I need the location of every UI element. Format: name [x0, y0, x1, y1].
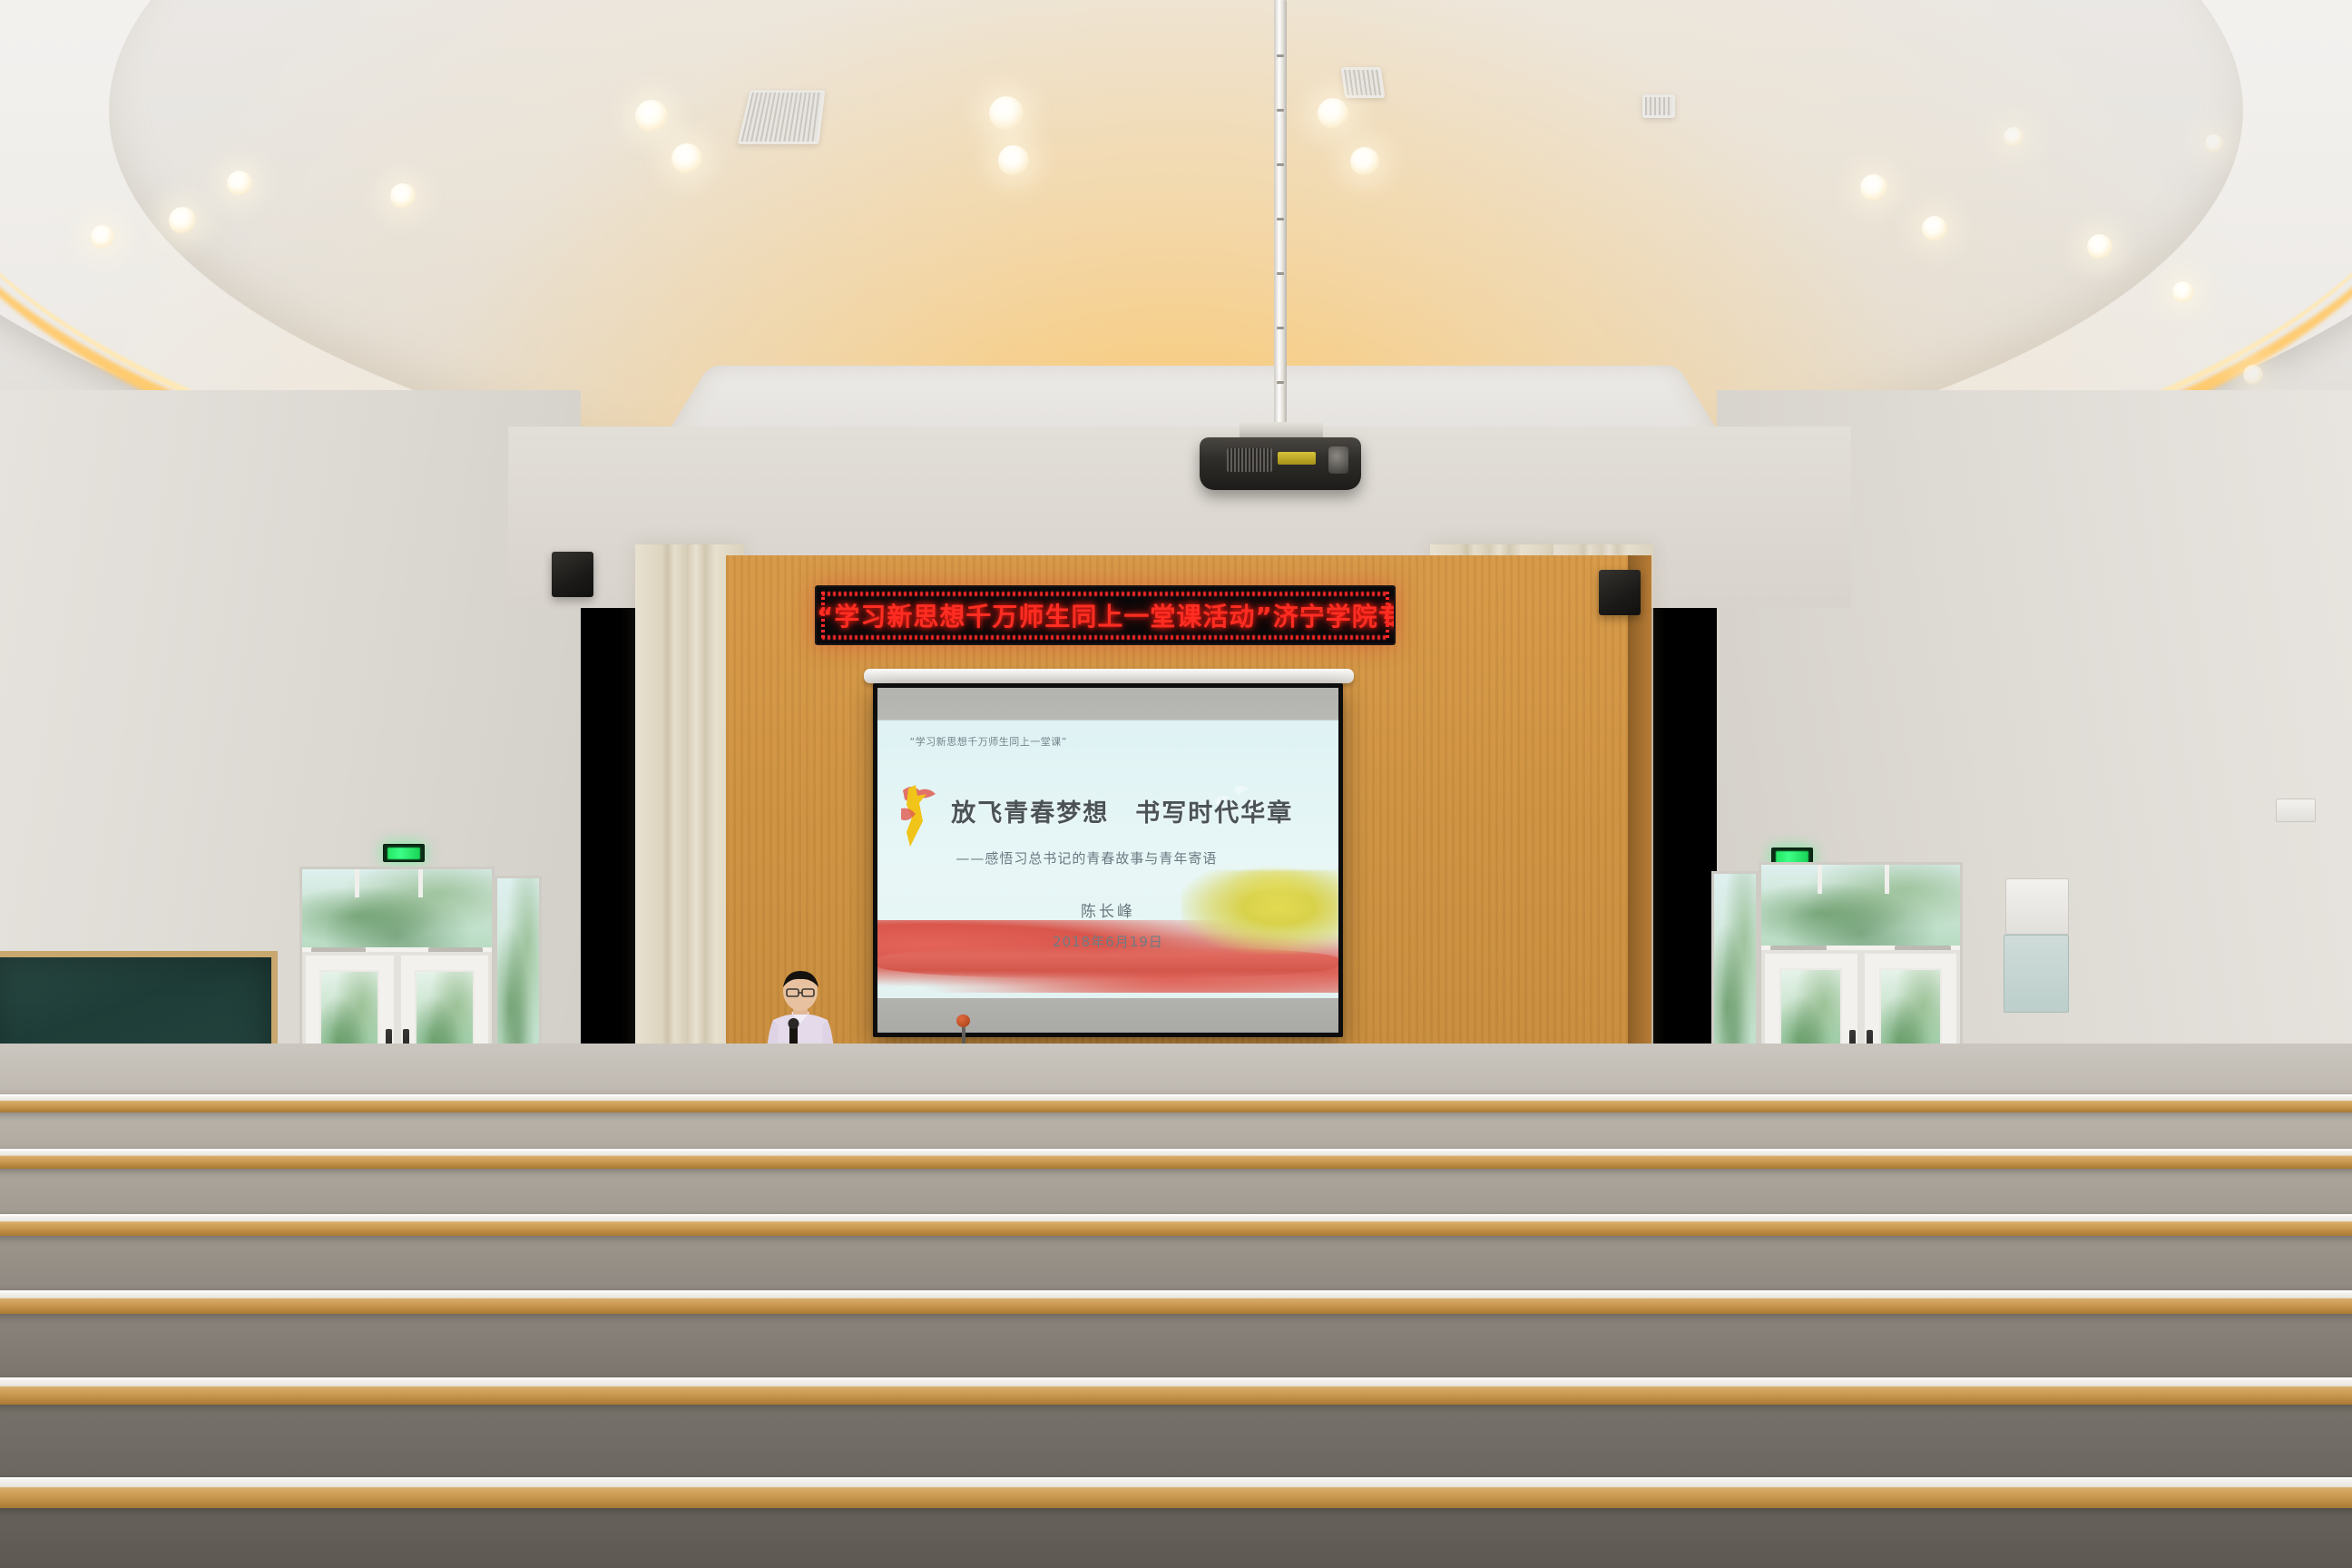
ceiling-downlight	[1860, 174, 1887, 201]
desk-row	[0, 1290, 2352, 1314]
led-border-bottom	[822, 635, 1388, 640]
ceiling-downlight	[1350, 147, 1379, 176]
desk-row	[0, 1149, 2352, 1169]
screen-surface: “学习新思想千万师生同上一堂课” 放飞青春梦想 书写时代华章 ——感悟习总书记的…	[877, 688, 1338, 1033]
ceiling-downlight	[2172, 281, 2194, 303]
wall-speaker-left	[552, 552, 593, 597]
ceiling-downlight	[390, 183, 416, 209]
led-banner: “学习新思想千万师生同上一堂课活动”济宁学院专场	[815, 585, 1396, 645]
wall-speaker-right	[1599, 570, 1641, 615]
projection-screen: “学习新思想千万师生同上一堂课” 放飞青春梦想 书写时代华章 ——感悟习总书记的…	[873, 683, 1343, 1037]
slide-date: 2018年6月19日	[877, 932, 1338, 951]
desk-row	[0, 1377, 2352, 1405]
projector-label	[1278, 452, 1316, 465]
ceiling-downlight	[2087, 234, 2112, 260]
slide-title: 放飞青春梦想 书写时代华章	[951, 793, 1293, 828]
slide-mascot-icon	[896, 781, 941, 852]
ceiling-vent	[1642, 94, 1675, 118]
screen-roller-housing	[864, 669, 1354, 683]
door-transom-left	[302, 869, 492, 952]
slide-subtitle: ——感悟习总书记的青春故事与青年寄语	[955, 848, 1217, 867]
ceiling-downlight	[635, 100, 668, 132]
wall-panel-small	[2276, 799, 2316, 822]
ceiling-downlight	[2004, 127, 2024, 147]
slide-content: “学习新思想千万师生同上一堂课” 放飞青春梦想 书写时代华章 ——感悟习总书记的…	[877, 720, 1338, 998]
ceiling-downlight	[1318, 98, 1348, 129]
ceiling-projector	[1200, 437, 1361, 490]
student-audience	[0, 1044, 2352, 1568]
exit-sign-glow	[387, 848, 420, 859]
ceiling-downlight	[989, 96, 1024, 131]
ceiling-vent	[738, 90, 826, 143]
slide-kicker-text: “学习新思想千万师生同上一堂课”	[910, 734, 1067, 749]
desk-row	[0, 1214, 2352, 1236]
led-border-top	[822, 592, 1388, 596]
wall-utility-cabinet-lower	[2004, 935, 2069, 1013]
exit-sign-left	[383, 844, 425, 862]
ceiling-downlight	[91, 225, 114, 249]
ceiling-downlight	[2205, 134, 2223, 152]
microphone-head	[956, 1014, 970, 1027]
lecture-hall-photo: “学习新思想千万师生同上一堂课活动”济宁学院专场	[0, 0, 2352, 1568]
door-transom-right	[1761, 865, 1960, 950]
window-foliage	[302, 869, 492, 947]
projector-lens	[1328, 446, 1348, 474]
ceiling-downlight	[1922, 216, 1947, 241]
projector-vent-grille	[1227, 448, 1272, 472]
desk-row	[0, 1477, 2352, 1508]
led-banner-text: “学习新思想千万师生同上一堂课活动”济宁学院专场	[817, 597, 1394, 633]
slide-speaker-name: 陈长峰	[877, 898, 1338, 921]
ceiling-downlight	[998, 145, 1029, 176]
projector-mount-pole	[1274, 0, 1287, 431]
ceiling-downlight	[227, 171, 252, 196]
ceiling-downlight	[169, 207, 196, 234]
wall-utility-cabinet-upper	[2005, 878, 2069, 935]
exit-sign-glow	[1776, 851, 1808, 863]
ceiling-downlight	[671, 143, 702, 174]
ceiling-downlight	[2243, 365, 2263, 385]
ceiling-vent	[1341, 67, 1386, 98]
